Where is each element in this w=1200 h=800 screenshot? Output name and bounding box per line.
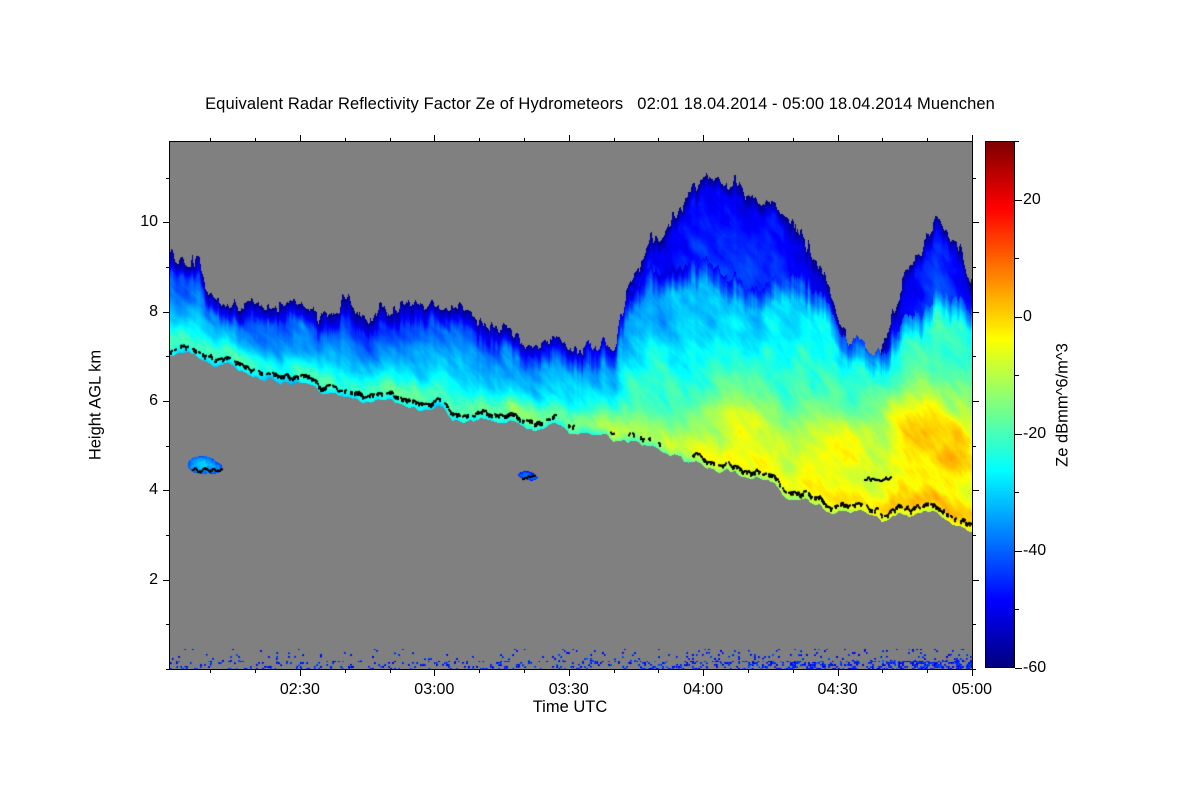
- x-tick-major: [300, 669, 301, 676]
- x-tick-major-top: [434, 135, 435, 142]
- plot-area: 24681002:3003:0003:3004:0004:3005:00: [169, 141, 973, 670]
- y-tick-minor: [166, 446, 170, 447]
- colorbar-tick-minor: [1015, 258, 1019, 259]
- colorbar-tick-minor: [1015, 375, 1019, 376]
- x-tick-minor: [793, 669, 794, 673]
- colorbar-tick-major: [1015, 200, 1022, 201]
- x-tick-major-top: [838, 135, 839, 142]
- x-tick-major: [569, 669, 570, 676]
- x-tick-minor-top: [748, 138, 749, 142]
- x-tick-minor-top: [255, 138, 256, 142]
- y-tick-minor: [166, 535, 170, 536]
- y-tick-label: 4: [149, 481, 158, 499]
- colorbar: -60-40-20020: [985, 141, 1015, 668]
- x-tick-minor: [524, 669, 525, 673]
- colorbar-tick-minor: [1015, 141, 1019, 142]
- y-tick-major-right: [972, 312, 979, 313]
- x-axis-title: Time UTC: [533, 698, 608, 717]
- x-tick-major: [434, 669, 435, 676]
- y-tick-minor: [166, 356, 170, 357]
- y-tick-label: 6: [149, 392, 158, 410]
- y-tick-major: [163, 222, 170, 223]
- x-tick-minor: [614, 669, 615, 673]
- colorbar-tick-major: [1015, 668, 1022, 669]
- x-tick-minor: [479, 669, 480, 673]
- x-tick-minor: [210, 669, 211, 673]
- x-tick-minor: [390, 669, 391, 673]
- x-tick-major: [838, 669, 839, 676]
- y-tick-label: 10: [140, 213, 158, 231]
- radar-reflectivity-heatmap: [170, 142, 972, 669]
- y-tick-major: [163, 312, 170, 313]
- x-tick-major-top: [569, 135, 570, 142]
- x-tick-minor-top: [390, 138, 391, 142]
- x-tick-minor-top: [524, 138, 525, 142]
- y-tick-minor-right: [972, 178, 976, 179]
- x-tick-minor-top: [793, 138, 794, 142]
- y-tick-major-right: [972, 222, 979, 223]
- x-tick-label: 02:30: [280, 681, 320, 699]
- y-tick-label: 2: [149, 571, 158, 589]
- colorbar-title: Ze dBmm^6/m^3: [1054, 343, 1073, 467]
- x-tick-major-top: [703, 135, 704, 142]
- x-tick-minor: [927, 669, 928, 673]
- y-tick-minor-right: [972, 356, 976, 357]
- y-tick-minor-right: [972, 535, 976, 536]
- x-tick-minor-top: [345, 138, 346, 142]
- colorbar-tick-label: -40: [1023, 542, 1046, 560]
- x-tick-major: [972, 669, 973, 676]
- y-tick-major: [163, 490, 170, 491]
- y-tick-minor: [166, 624, 170, 625]
- x-tick-minor: [255, 669, 256, 673]
- x-tick-label: 03:30: [549, 681, 589, 699]
- colorbar-tick-major: [1015, 551, 1022, 552]
- colorbar-tick-label: 0: [1023, 308, 1032, 326]
- x-tick-minor-top: [658, 138, 659, 142]
- page-title: Equivalent Radar Reflectivity Factor Ze …: [0, 95, 1200, 114]
- x-tick-minor-top: [882, 138, 883, 142]
- y-tick-minor: [166, 178, 170, 179]
- radar-figure: Equivalent Radar Reflectivity Factor Ze …: [0, 0, 1200, 800]
- y-axis-title: Height AGL km: [87, 350, 106, 460]
- colorbar-tick-minor: [1015, 609, 1019, 610]
- x-tick-minor-top: [927, 138, 928, 142]
- colorbar-tick-major: [1015, 317, 1022, 318]
- x-tick-major: [703, 669, 704, 676]
- y-tick-major-right: [972, 401, 979, 402]
- x-tick-minor: [658, 669, 659, 673]
- colorbar-tick-label: -20: [1023, 425, 1046, 443]
- x-tick-minor-top: [479, 138, 480, 142]
- x-tick-minor: [882, 669, 883, 673]
- x-tick-minor-top: [614, 138, 615, 142]
- colorbar-tick-label: 20: [1023, 191, 1041, 209]
- colorbar-tick-label: -60: [1023, 659, 1046, 677]
- colorbar-gradient: [985, 141, 1015, 668]
- x-tick-major-top: [300, 135, 301, 142]
- x-tick-minor: [345, 669, 346, 673]
- y-tick-major: [163, 401, 170, 402]
- y-tick-minor: [166, 267, 170, 268]
- x-tick-major-top: [972, 135, 973, 142]
- y-tick-minor-right: [972, 624, 976, 625]
- x-tick-minor-top: [210, 138, 211, 142]
- x-tick-label: 04:00: [683, 681, 723, 699]
- y-tick-major-right: [972, 580, 979, 581]
- colorbar-tick-minor: [1015, 492, 1019, 493]
- x-tick-label: 03:00: [414, 681, 454, 699]
- y-tick-major-right: [972, 490, 979, 491]
- x-tick-label: 05:00: [952, 681, 992, 699]
- y-tick-label: 8: [149, 303, 158, 321]
- x-tick-label: 04:30: [818, 681, 858, 699]
- y-tick-minor-right: [972, 446, 976, 447]
- y-tick-major: [163, 580, 170, 581]
- y-tick-minor-right: [972, 267, 976, 268]
- y-tick-minor: [166, 669, 170, 670]
- x-tick-minor: [748, 669, 749, 673]
- colorbar-tick-major: [1015, 434, 1022, 435]
